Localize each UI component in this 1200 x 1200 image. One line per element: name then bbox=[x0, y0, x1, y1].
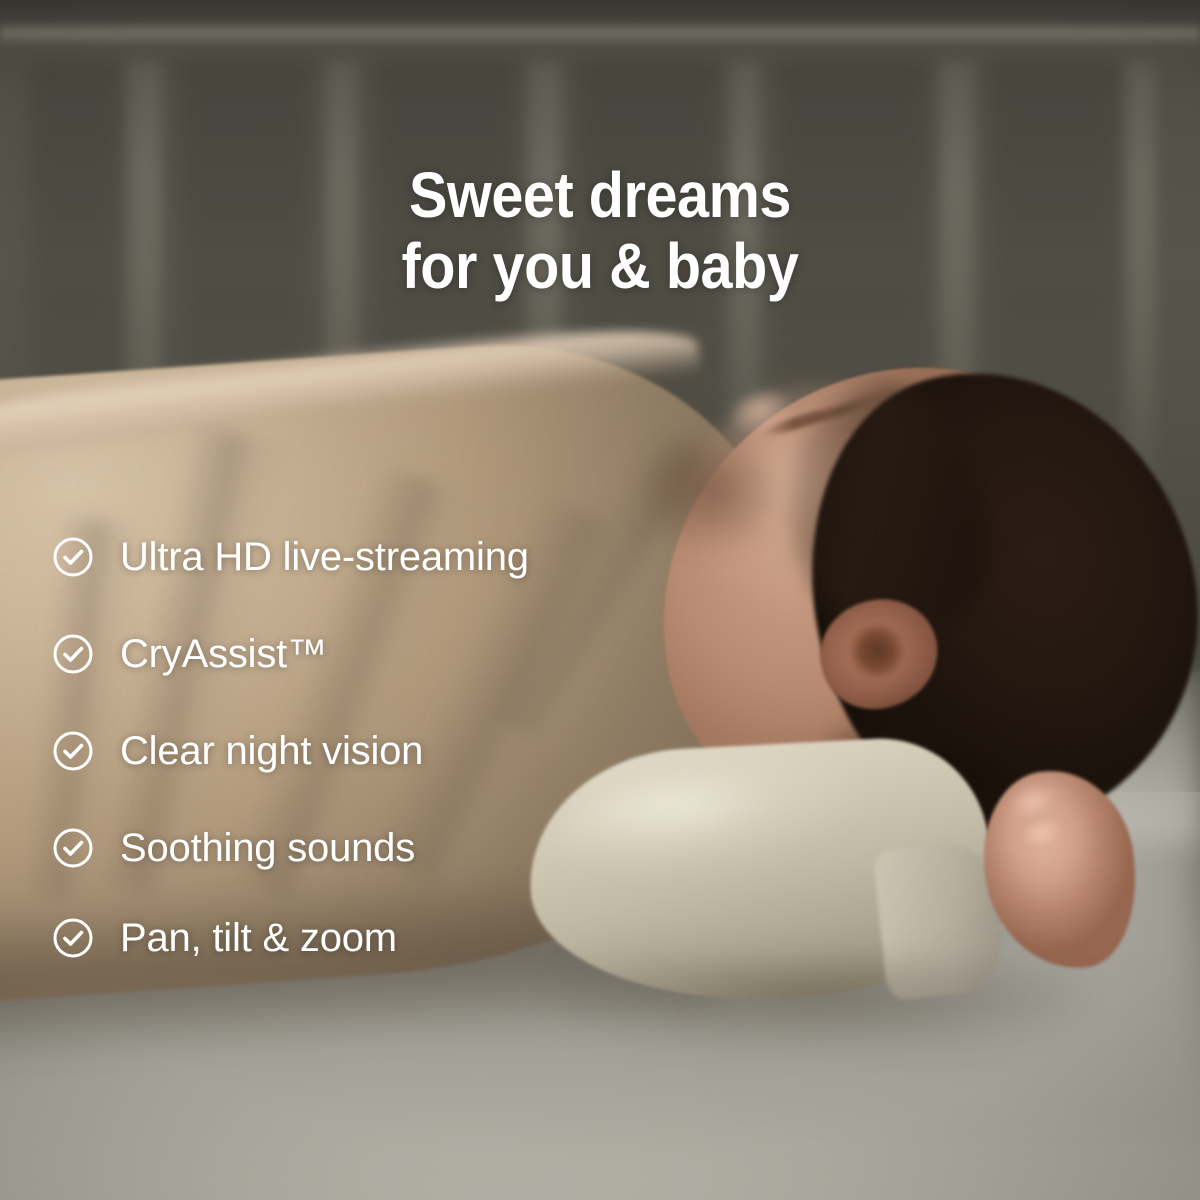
feature-label: Pan, tilt & zoom bbox=[120, 918, 397, 958]
feature-label: Soothing sounds bbox=[120, 828, 415, 868]
check-circle-icon bbox=[52, 536, 94, 578]
crib-top-rail bbox=[0, 22, 1200, 48]
check-circle-icon bbox=[52, 730, 94, 772]
check-circle-icon bbox=[52, 633, 94, 675]
feature-item: CryAssist™ bbox=[52, 625, 752, 683]
feature-item: Soothing sounds bbox=[52, 819, 752, 877]
crib-rail-shadow bbox=[0, 50, 1200, 64]
check-circle-icon bbox=[52, 827, 94, 869]
arm-shadow bbox=[560, 960, 1080, 1050]
feature-label: CryAssist™ bbox=[120, 634, 327, 674]
feature-item: Pan, tilt & zoom bbox=[52, 909, 752, 967]
feature-item: Ultra HD live-streaming bbox=[52, 528, 752, 586]
promo-hero-image: Sweet dreams for you & baby Ultra HD liv… bbox=[0, 0, 1200, 1200]
feature-list: Ultra HD live-streaming CryAssist™ Clear… bbox=[52, 528, 752, 967]
headline: Sweet dreams for you & baby bbox=[60, 160, 1140, 302]
feature-label: Ultra HD live-streaming bbox=[120, 537, 529, 577]
feature-item: Clear night vision bbox=[52, 722, 752, 780]
check-circle-icon bbox=[52, 917, 94, 959]
feature-label: Clear night vision bbox=[120, 731, 423, 771]
